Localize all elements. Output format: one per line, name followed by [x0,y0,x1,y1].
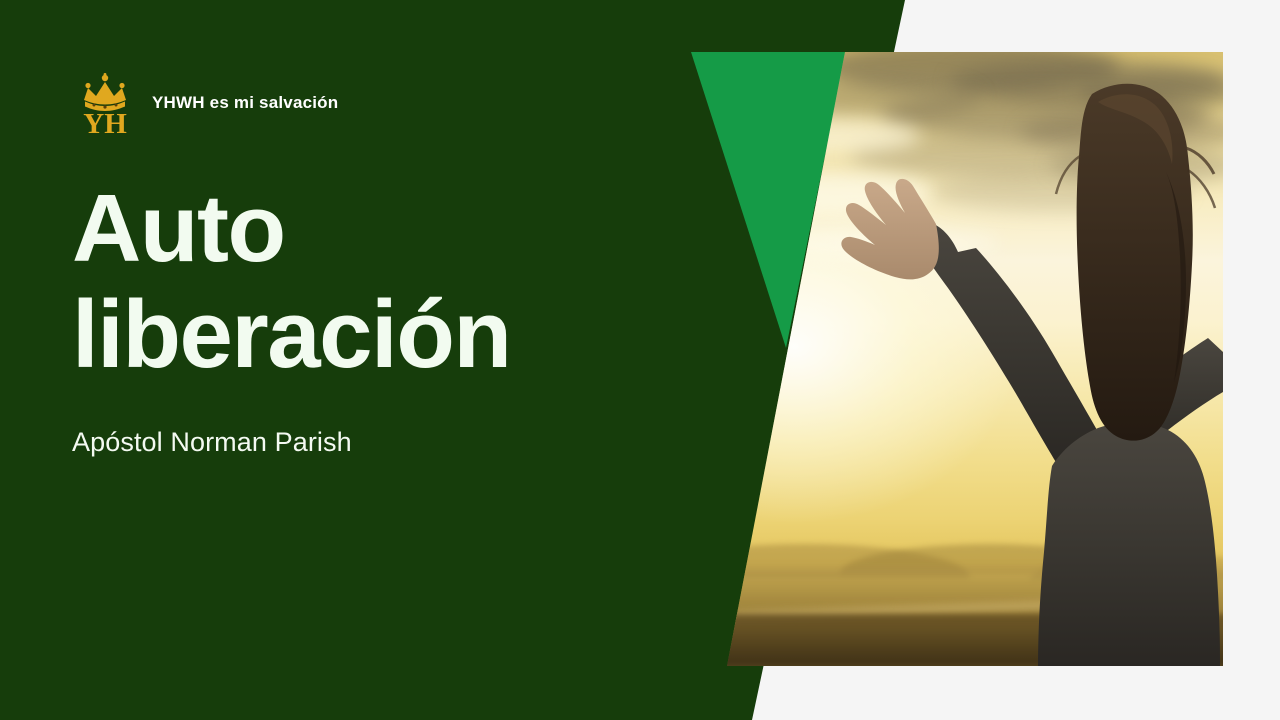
title-line-1: Auto [72,175,285,282]
crown-icon: YH [72,70,138,136]
logo-monogram: YH [83,108,127,136]
page-title: Auto liberación [72,176,672,387]
presentation-slide: YH YHWH es mi salvación Auto liberación … [0,0,1280,720]
brand-lockup[interactable]: YH YHWH es mi salvación [72,70,338,136]
speaker-byline: Apóstol Norman Parish [72,427,352,458]
title-line-2: liberación [72,282,672,388]
brand-tagline: YHWH es mi salvación [152,93,338,113]
